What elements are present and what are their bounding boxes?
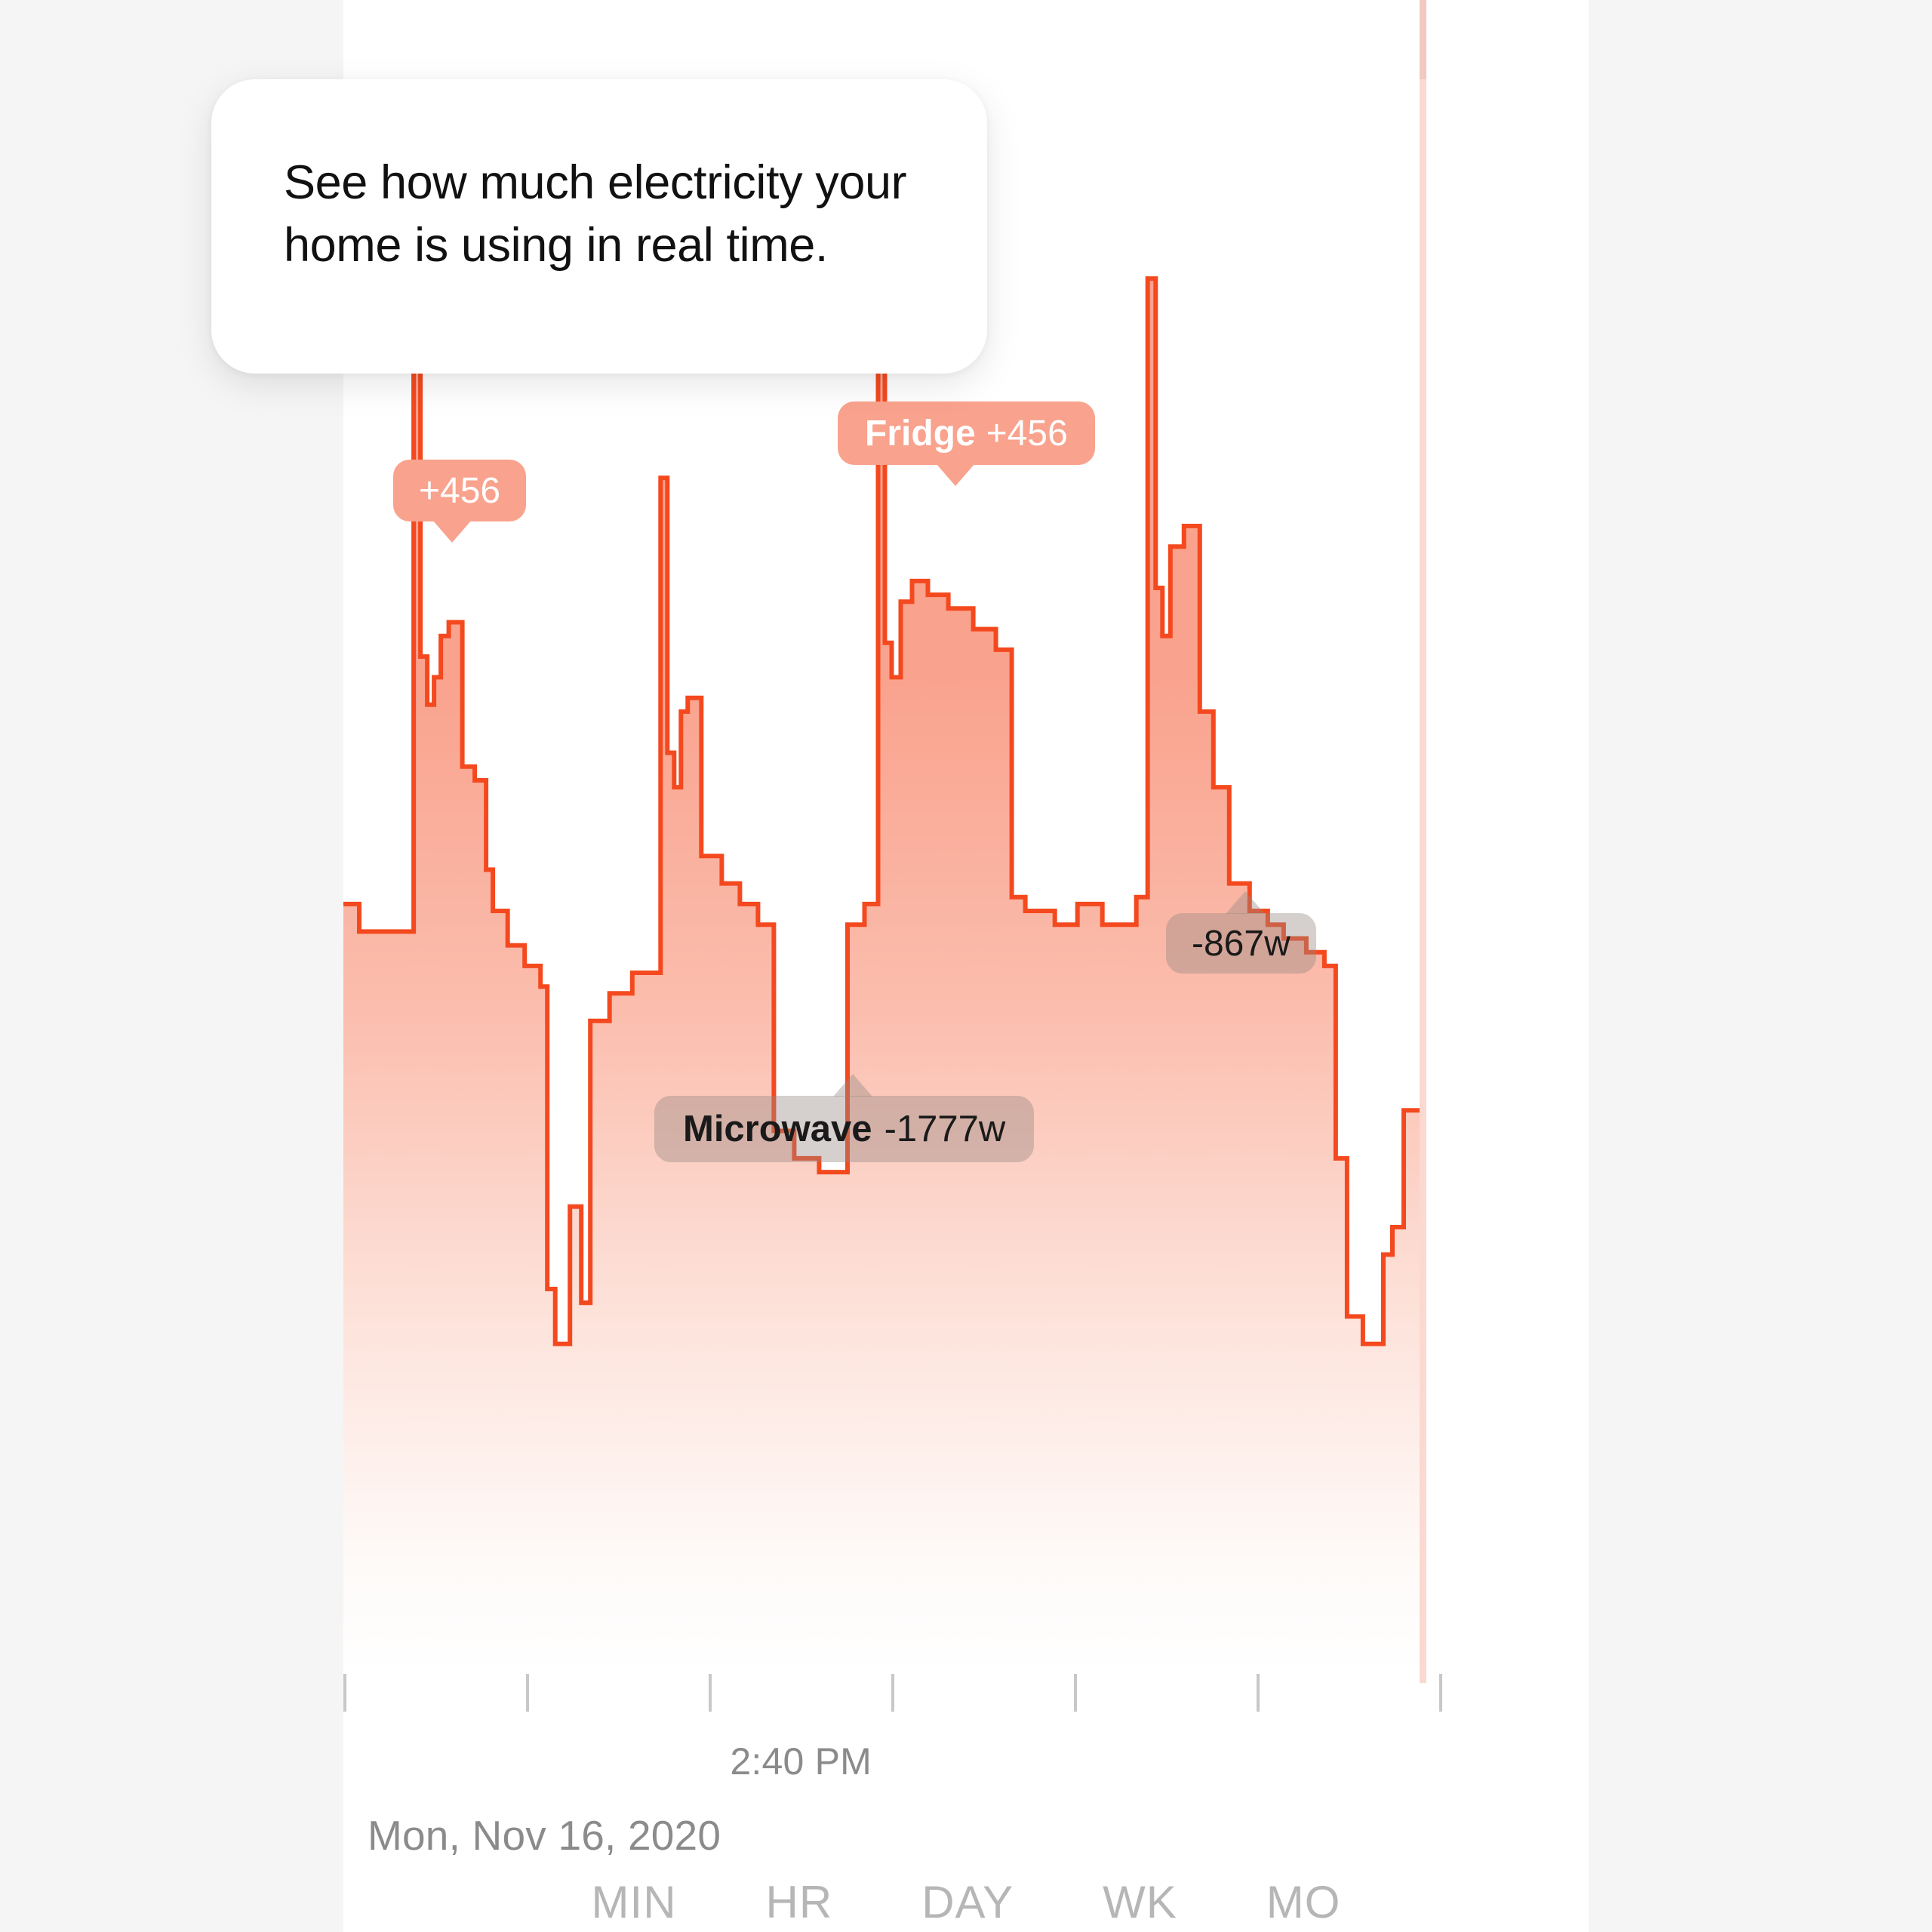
badge-pointer-microwave — [833, 1074, 872, 1097]
axis-tick — [1439, 1674, 1442, 1712]
chart-time-label: 2:40 PM — [343, 1740, 872, 1783]
coach-tooltip-card[interactable]: See how much electricity your home is us… — [211, 79, 987, 374]
tab-min[interactable]: MIN — [592, 1876, 677, 1928]
annotation-value: +456 — [419, 470, 500, 512]
badge-pointer-fridge — [936, 463, 975, 486]
annotation-badge-minus867[interactable]: -867w — [1166, 913, 1316, 974]
axis-tick — [709, 1674, 712, 1712]
annotation-value: -1777w — [884, 1108, 1006, 1150]
range-tabbar: MIN HR DAY WK MO — [343, 1872, 1589, 1932]
annotation-value: -867w — [1192, 923, 1291, 964]
tab-wk[interactable]: WK — [1103, 1876, 1177, 1928]
axis-tick — [1257, 1674, 1260, 1712]
current-time-marker-line — [1420, 0, 1426, 1683]
tab-day[interactable]: DAY — [921, 1876, 1014, 1928]
annotation-label: Microwave — [683, 1108, 872, 1150]
chart-x-axis-ticks — [343, 1674, 1589, 1716]
badge-pointer-minus867 — [1226, 891, 1265, 914]
coach-tooltip-text: See how much electricity your home is us… — [284, 152, 915, 277]
annotation-badge-plus456[interactable]: +456 — [393, 460, 526, 521]
badge-pointer-plus456 — [432, 520, 472, 543]
annotation-label: Fridge — [865, 413, 976, 454]
axis-tick — [526, 1674, 529, 1712]
annotation-badge-fridge[interactable]: Fridge +456 — [838, 401, 1095, 465]
axis-tick — [1074, 1674, 1077, 1712]
axis-tick — [343, 1674, 346, 1712]
annotation-badge-microwave[interactable]: Microwave -1777w — [654, 1096, 1034, 1162]
chart-date-label: Mon, Nov 16, 2020 — [368, 1811, 721, 1860]
axis-tick — [891, 1674, 894, 1712]
tab-mo[interactable]: MO — [1266, 1876, 1341, 1928]
tab-hr[interactable]: HR — [766, 1876, 833, 1928]
current-time-marker-line-top — [1420, 0, 1426, 79]
annotation-value: +456 — [986, 413, 1068, 454]
